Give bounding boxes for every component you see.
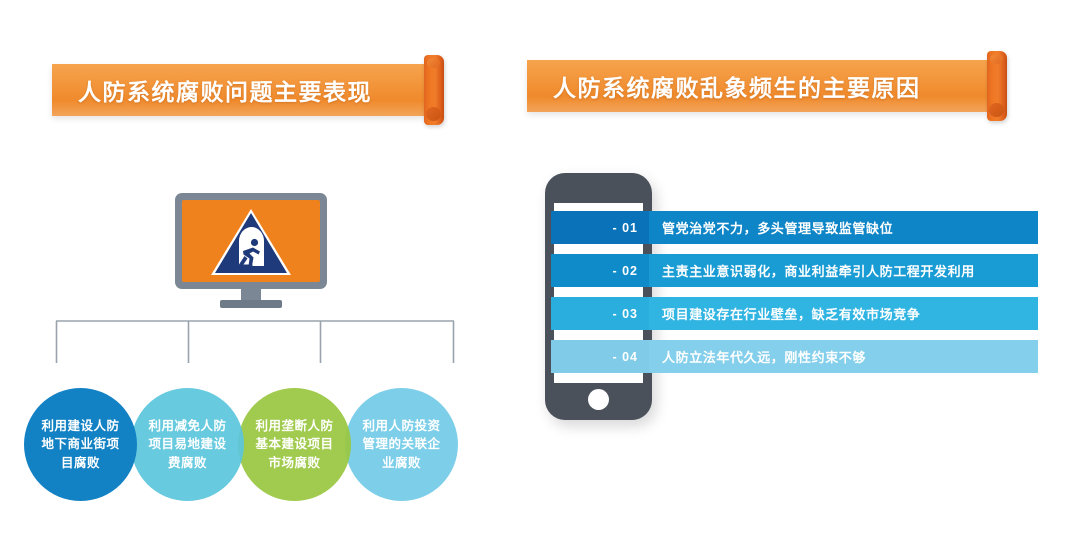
civil-defense-shelter-icon (209, 206, 293, 278)
reason-row[interactable]: - 01 管党治党不力，多头管理导致监管缺位 (551, 211, 1038, 244)
reason-row[interactable]: - 04 人防立法年代久远，刚性约束不够 (551, 340, 1038, 373)
finding-circle-1[interactable]: 利用建设人防地下商业街项目腐败 (24, 388, 137, 501)
reason-row[interactable]: - 03 项目建设存在行业壁垒，缺乏有效市场竞争 (551, 297, 1038, 330)
reason-text-3: 项目建设存在行业壁垒，缺乏有效市场竞争 (649, 297, 1038, 330)
banner-scroll-roll-icon (987, 51, 1007, 121)
monitor-screen (182, 200, 320, 282)
finding-circle-3[interactable]: 利用垄断人防基本建设项目市场腐败 (238, 388, 351, 501)
monitor-illustration (175, 193, 327, 308)
reason-number-2: - 02 (551, 254, 649, 287)
reason-text-1: 管党治党不力，多头管理导致监管缺位 (649, 211, 1038, 244)
reason-number-1: - 01 (551, 211, 649, 244)
reason-row[interactable]: - 02 主责主业意识弱化，商业利益牵引人防工程开发利用 (551, 254, 1038, 287)
infographic-canvas: 人防系统腐败问题主要表现 人防系统腐败乱象频生的主要原因 (0, 0, 1080, 540)
right-banner-title: 人防系统腐败乱象频生的主要原因 (527, 69, 921, 103)
smartphone-home-button-icon[interactable] (588, 389, 609, 410)
finding-circle-4[interactable]: 利用人防投资管理的关联企业腐败 (345, 388, 458, 501)
monitor-frame (175, 193, 327, 289)
finding-circle-3-label: 利用垄断人防基本建设项目市场腐败 (253, 417, 337, 471)
left-banner-title: 人防系统腐败问题主要表现 (52, 73, 372, 107)
finding-circle-1-label: 利用建设人防地下商业街项目腐败 (39, 417, 123, 471)
monitor-base (220, 300, 282, 308)
finding-circle-4-label: 利用人防投资管理的关联企业腐败 (360, 417, 444, 471)
finding-circle-2-label: 利用减免人防项目易地建设费腐败 (146, 417, 230, 471)
reason-text-2: 主责主业意识弱化，商业利益牵引人防工程开发利用 (649, 254, 1038, 287)
reason-text-4: 人防立法年代久远，刚性约束不够 (649, 340, 1038, 373)
banner-scroll-roll-icon (424, 55, 444, 125)
bracket-connector (55, 320, 455, 364)
right-section-banner: 人防系统腐败乱象频生的主要原因 (527, 60, 997, 112)
left-section-banner: 人防系统腐败问题主要表现 (52, 64, 434, 116)
reason-number-4: - 04 (551, 340, 649, 373)
reason-number-3: - 03 (551, 297, 649, 330)
finding-circle-2[interactable]: 利用减免人防项目易地建设费腐败 (131, 388, 244, 501)
